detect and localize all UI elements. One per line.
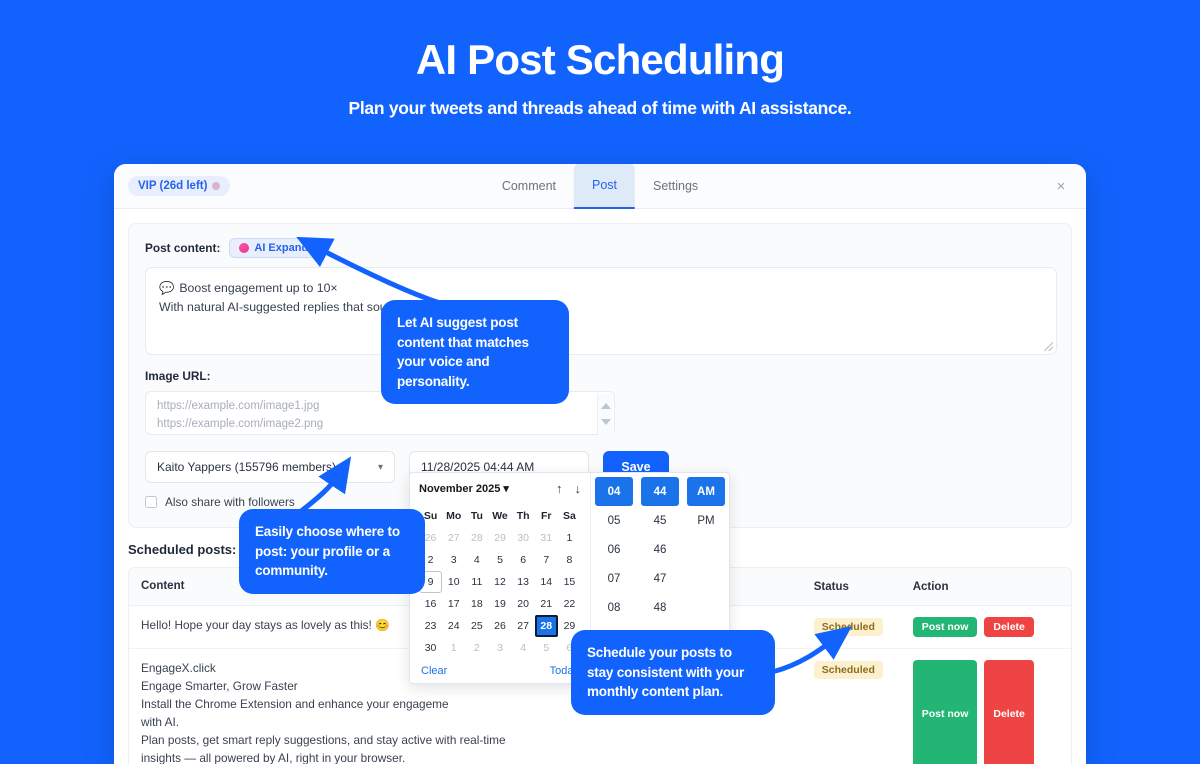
calendar-day[interactable]: 26 [488,615,511,637]
calendar-day[interactable]: 19 [488,593,511,615]
calendar-day[interactable]: 22 [558,593,581,615]
calendar-clear-button[interactable]: Clear [421,665,447,677]
tab-comment[interactable]: Comment [484,164,574,209]
calendar-day[interactable]: 2 [465,637,488,659]
hour-option[interactable]: 08 [591,593,637,622]
image-url-label: Image URL: [145,369,1055,383]
minute-option[interactable]: 44 [641,477,679,506]
delete-button[interactable]: Delete [984,617,1034,637]
calendar-month-dropdown[interactable]: November 2025 ▾ [419,482,509,495]
post-now-button[interactable]: Post now [913,660,978,764]
page-subtitle: Plan your tweets and threads ahead of ti… [0,98,1200,119]
calendar-day[interactable]: 8 [558,549,581,571]
calendar-day[interactable]: 14 [535,571,558,593]
calendar-day[interactable]: 30 [419,637,442,659]
calendar-day[interactable]: 12 [488,571,511,593]
callout-ai-content: Let AI suggest post content that matches… [381,300,569,404]
prev-month-icon[interactable]: ↑ [556,481,563,496]
calendar-day[interactable]: 29 [488,527,511,549]
calendar-day[interactable]: 18 [465,593,488,615]
calendar-day[interactable]: 6 [512,549,535,571]
chevron-down-icon: ▾ [378,462,383,473]
hour-option[interactable]: 04 [595,477,633,506]
delete-button[interactable]: Delete [984,660,1034,764]
post-content-row: Post content: AI Expand [145,238,1055,258]
meridiem-option[interactable]: AM [687,477,725,506]
chevron-up-icon[interactable] [601,403,611,409]
tab-settings[interactable]: Settings [635,164,716,209]
sparkle-icon [239,243,249,253]
vip-status-icon [212,182,220,190]
status-badge: Scheduled [814,661,883,679]
calendar-day[interactable]: 1 [558,527,581,549]
image-url-line-2: https://example.com/image2.png [157,416,603,434]
row-status: Scheduled [814,660,913,764]
calendar-day[interactable]: 31 [535,527,558,549]
calendar-day[interactable]: 15 [558,571,581,593]
minute-option[interactable]: 47 [637,564,683,593]
page-title: AI Post Scheduling [0,38,1200,82]
calendar-day[interactable]: 4 [512,637,535,659]
calendar-day[interactable]: 1 [442,637,465,659]
tab-post[interactable]: Post [574,164,635,209]
post-text-line-2: With natural AI-suggested replies that s… [159,298,1043,317]
share-followers-label: Also share with followers [165,495,295,509]
chevron-down-icon[interactable] [601,419,611,425]
post-now-button[interactable]: Post now [913,617,978,637]
hour-option[interactable]: 06 [591,535,637,564]
column-header-status: Status [814,581,913,593]
calendar-day[interactable]: 5 [535,637,558,659]
hour-option[interactable]: 07 [591,564,637,593]
calendar-day[interactable]: 28 [535,615,558,637]
minute-option[interactable]: 45 [637,506,683,535]
calendar-nav: ↑ ↓ [556,481,581,496]
calendar-footer: Clear Today [419,665,581,677]
meridiem-option[interactable]: PM [683,506,729,535]
column-header-action: Action [913,581,1071,593]
audience-select[interactable]: Kaito Yappers (155796 members) ▾ [145,451,395,483]
calendar: November 2025 ▾ ↑ ↓ SuMoTuWeThFrSa262728… [410,473,590,683]
row-actions: Post now Delete [913,660,1071,764]
vip-badge-label: VIP (26d left) [138,180,207,192]
calendar-day[interactable]: 3 [488,637,511,659]
calendar-day[interactable]: 16 [419,593,442,615]
calendar-day[interactable]: 5 [488,549,511,571]
calendar-day[interactable]: 24 [442,615,465,637]
calendar-header: November 2025 ▾ ↑ ↓ [419,481,581,496]
calendar-day[interactable]: 3 [442,549,465,571]
callout-schedule: Schedule your posts to stay consistent w… [571,630,775,715]
resize-handle-icon[interactable] [1044,342,1053,351]
post-text-line-1: 💬Boost engagement up to 10× [159,279,1043,298]
calendar-day[interactable]: 13 [512,571,535,593]
audience-select-value: Kaito Yappers (155796 members) [157,460,336,474]
calendar-dow-header: Fr [535,505,558,527]
calendar-dow-header: Tu [465,505,488,527]
calendar-day[interactable]: 28 [465,527,488,549]
calendar-day[interactable]: 10 [442,571,465,593]
minute-option[interactable]: 46 [637,535,683,564]
calendar-day[interactable]: 23 [419,615,442,637]
calendar-day[interactable]: 27 [512,615,535,637]
ai-expand-button[interactable]: AI Expand [229,238,318,258]
speech-bubble-icon: 💬 [159,281,174,295]
promo-header: AI Post Scheduling Plan your tweets and … [0,0,1200,119]
callout-audience: Easily choose where to post: your profil… [239,509,425,594]
calendar-dow-header: Sa [558,505,581,527]
calendar-dow-header: We [488,505,511,527]
calendar-dow-header: Th [512,505,535,527]
calendar-day[interactable]: 7 [535,549,558,571]
status-badge: Scheduled [814,618,883,636]
window-topbar: VIP (26d left) Comment Post Settings × [114,164,1086,209]
hour-option[interactable]: 05 [591,506,637,535]
calendar-day[interactable]: 20 [512,593,535,615]
row-actions: Post now Delete [913,617,1071,637]
calendar-day[interactable]: 21 [535,593,558,615]
tab-bar: Comment Post Settings [484,164,716,209]
close-icon[interactable]: × [1052,177,1070,195]
minute-option[interactable]: 48 [637,593,683,622]
calendar-day[interactable]: 17 [442,593,465,615]
calendar-day[interactable]: 4 [465,549,488,571]
post-content-textarea[interactable]: 💬Boost engagement up to 10× With natural… [145,267,1057,355]
ai-expand-label: AI Expand [254,242,308,254]
calendar-day[interactable]: 25 [465,615,488,637]
image-url-stepper[interactable] [597,393,613,435]
calendar-day[interactable]: 11 [465,571,488,593]
row-status: Scheduled [814,617,913,637]
vip-badge[interactable]: VIP (26d left) [128,176,230,196]
calendar-day[interactable]: 27 [442,527,465,549]
calendar-grid[interactable]: SuMoTuWeThFrSa26272829303112345678910111… [419,505,581,659]
post-content-label: Post content: [145,241,220,255]
calendar-dow-header: Mo [442,505,465,527]
next-month-icon[interactable]: ↓ [575,481,582,496]
share-followers-checkbox[interactable] [145,496,157,508]
calendar-day[interactable]: 30 [512,527,535,549]
